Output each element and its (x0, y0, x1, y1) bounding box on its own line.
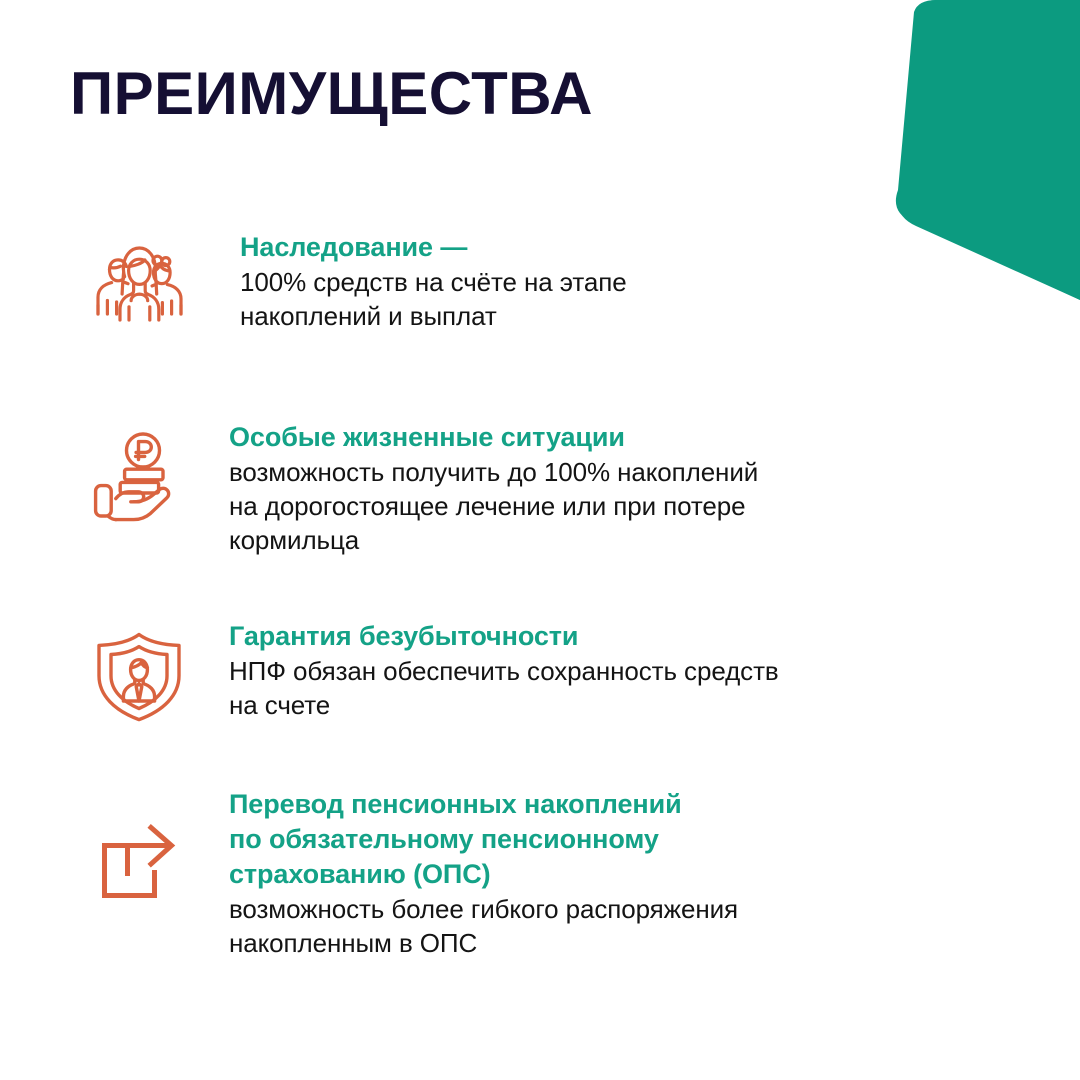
benefit-heading-line: Перевод пенсионных накоплений (229, 787, 1080, 822)
benefit-body-line: 100% средств на счёте на этапе (240, 265, 1080, 299)
benefit-body-line: накоплений и выплат (240, 299, 1080, 333)
benefit-heading: Наследование — (240, 230, 1080, 265)
transfer-out-arrow-icon (80, 819, 198, 923)
benefit-body: НПФ обязан обеспечить сохранность средст… (229, 654, 1080, 722)
hand-with-coins-ruble-icon (80, 430, 198, 534)
benefits-list: Наследование — 100% средств на счёте на … (0, 228, 1080, 960)
benefit-item-inheritance: Наследование — 100% средств на счёте на … (0, 228, 1080, 340)
benefit-heading-line: по обязательному пенсионному (229, 822, 1080, 857)
benefit-body-line: на дорогостоящее лечение или при потере (229, 489, 1080, 523)
benefit-body: 100% средств на счёте на этапе накоплени… (240, 265, 1080, 333)
benefit-body: возможность получить до 100% накоплений … (229, 455, 1080, 557)
benefit-item-guarantee: Гарантия безубыточности НПФ обязан обесп… (0, 617, 1080, 733)
benefit-body-line: накопленным в ОПС (229, 926, 1080, 960)
benefit-heading: Гарантия безубыточности (229, 619, 1080, 654)
benefit-heading: Перевод пенсионных накоплений по обязате… (229, 787, 1080, 892)
benefit-text-ops-transfer: Перевод пенсионных накоплений по обязате… (229, 785, 1080, 960)
benefit-body-line: на счете (229, 688, 1080, 722)
benefit-body-line: кормильца (229, 523, 1080, 557)
benefit-text-inheritance: Наследование — 100% средств на счёте на … (240, 228, 1080, 333)
benefit-text-guarantee: Гарантия безубыточности НПФ обязан обесп… (229, 617, 1080, 722)
page-title: ПРЕИМУЩЕСТВА (70, 58, 593, 130)
shield-with-person-icon (80, 629, 198, 733)
benefit-body: возможность более гибкого распоряжения н… (229, 892, 1080, 960)
benefit-body-line: возможность более гибкого распоряжения (229, 892, 1080, 926)
benefit-heading-line: страхованию (ОПС) (229, 857, 1080, 892)
slide-canvas: ПРЕИМУЩЕСТВА (0, 0, 1080, 1080)
benefit-item-special-situations: Особые жизненные ситуации возможность по… (0, 418, 1080, 557)
family-group-icon (80, 236, 198, 340)
benefit-text-special-situations: Особые жизненные ситуации возможность по… (229, 418, 1080, 557)
benefit-body-line: НПФ обязан обеспечить сохранность средст… (229, 654, 1080, 688)
benefit-item-ops-transfer: Перевод пенсионных накоплений по обязате… (0, 785, 1080, 960)
benefit-heading: Особые жизненные ситуации (229, 420, 1080, 455)
benefit-body-line: возможность получить до 100% накоплений (229, 455, 1080, 489)
